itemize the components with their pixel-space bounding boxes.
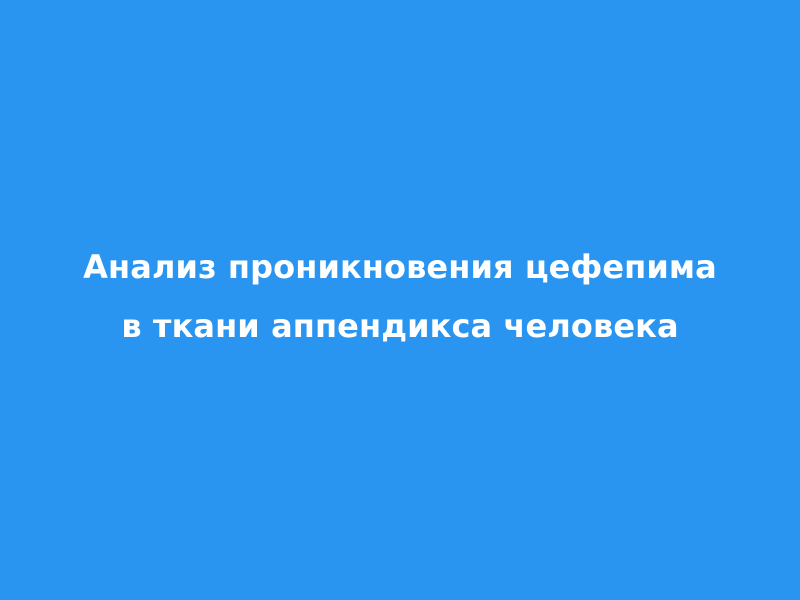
slide-title-line-2: в ткани аппендикса человека bbox=[50, 297, 750, 356]
slide-title-line-1: Анализ проникновения цефепима bbox=[50, 238, 750, 297]
slide-title-block: Анализ проникновения цефепима в ткани ап… bbox=[50, 238, 750, 356]
title-slide: Анализ проникновения цефепима в ткани ап… bbox=[0, 0, 800, 600]
